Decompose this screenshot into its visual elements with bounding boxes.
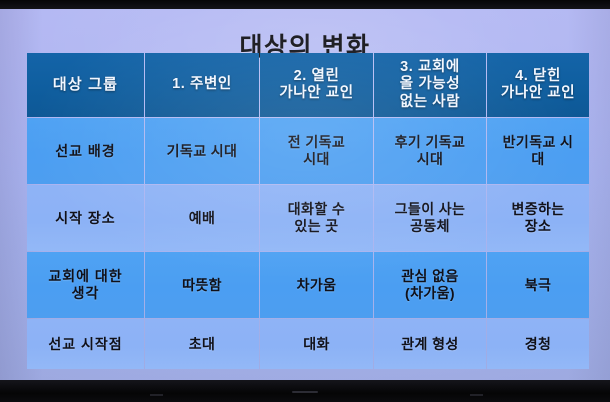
cell-2-2: 관심 없음(차가움) <box>374 252 486 318</box>
projected-slide-photo: 대상의 변화 대상 그룹 1. 주변인 2. 열린가나안 교인 3. 교회에올 … <box>0 0 610 402</box>
screen-bezel-bottom <box>0 380 610 402</box>
table-row: 교회에 대한생각 따뜻함 차가움 관심 없음(차가움) 북극 <box>27 252 589 318</box>
cell-0-2: 후기 기독교시대 <box>374 118 486 184</box>
cell-0-0: 기독교 시대 <box>145 118 259 184</box>
table-header-cell-0: 대상 그룹 <box>27 53 144 117</box>
cell-3-1: 대화 <box>260 319 373 369</box>
table-row: 시작 장소 예배 대화할 수있는 곳 그들이 사는공동체 변증하는장소 <box>27 185 589 251</box>
table-row: 선교 배경 기독교 시대 전 기독교시대 후기 기독교시대 반기독교 시대 <box>27 118 589 184</box>
bezel-notch <box>292 391 318 393</box>
cell-2-3: 북극 <box>487 252 589 318</box>
table-header-cell-1: 1. 주변인 <box>145 53 259 117</box>
row-label-2: 교회에 대한생각 <box>27 252 144 318</box>
cell-3-0: 초대 <box>145 319 259 369</box>
cell-1-1: 대화할 수있는 곳 <box>260 185 373 251</box>
bezel-marking-left <box>150 394 163 396</box>
row-label-3: 선교 시작점 <box>27 319 144 369</box>
cell-2-1: 차가움 <box>260 252 373 318</box>
row-label-0: 선교 배경 <box>27 118 144 184</box>
cell-1-2: 그들이 사는공동체 <box>374 185 486 251</box>
table-header-row: 대상 그룹 1. 주변인 2. 열린가나안 교인 3. 교회에올 가능성없는 사… <box>27 53 589 117</box>
cell-3-2: 관계 형성 <box>374 319 486 369</box>
screen-bezel-top <box>0 0 610 9</box>
cell-3-3: 경청 <box>487 319 589 369</box>
table-header-cell-2: 2. 열린가나안 교인 <box>260 53 373 117</box>
cell-1-3: 변증하는장소 <box>487 185 589 251</box>
table-row: 선교 시작점 초대 대화 관계 형성 경청 <box>27 319 589 369</box>
comparison-table: 대상 그룹 1. 주변인 2. 열린가나안 교인 3. 교회에올 가능성없는 사… <box>26 52 590 370</box>
cell-0-3: 반기독교 시대 <box>487 118 589 184</box>
cell-0-1: 전 기독교시대 <box>260 118 373 184</box>
table-header-cell-4: 4. 닫힌가나안 교인 <box>487 53 589 117</box>
bezel-marking-right <box>470 394 483 396</box>
table-header-cell-3: 3. 교회에올 가능성없는 사람 <box>374 53 486 117</box>
row-label-1: 시작 장소 <box>27 185 144 251</box>
cell-1-0: 예배 <box>145 185 259 251</box>
cell-2-0: 따뜻함 <box>145 252 259 318</box>
